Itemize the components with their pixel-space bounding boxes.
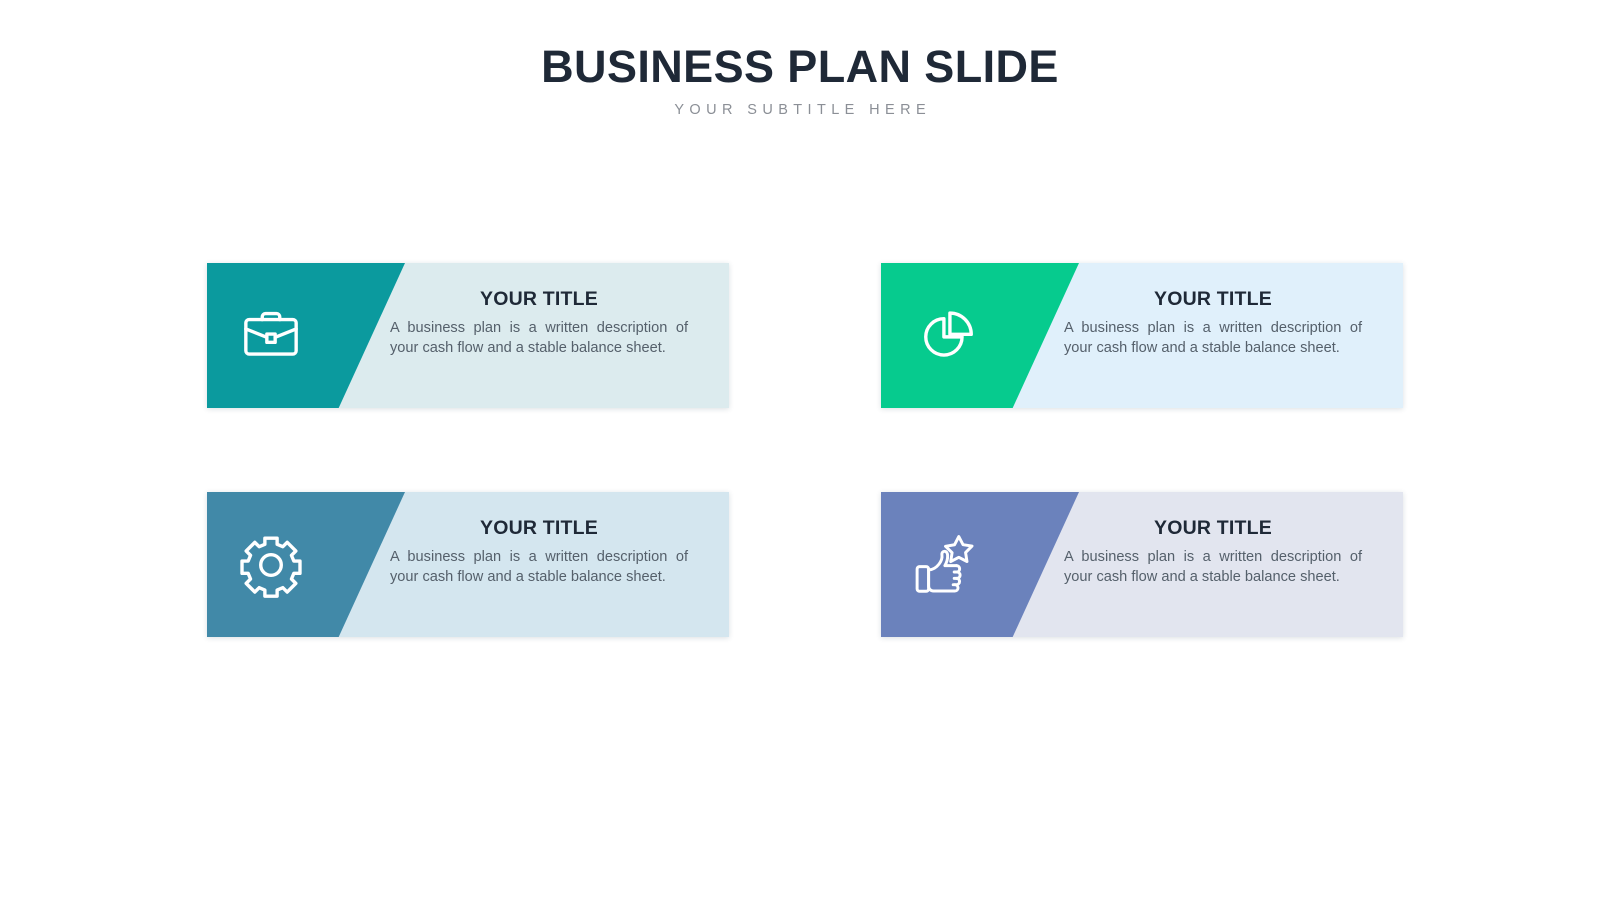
briefcase-icon (234, 299, 308, 373)
slide-canvas: BUSINESS PLAN SLIDE YOUR SUBTITLE HERE Y… (0, 0, 1600, 900)
card-text-1: YOUR TITLE A business plan is a written … (390, 287, 688, 358)
card-description-2: A business plan is a written description… (1064, 319, 1362, 358)
feature-card-3[interactable]: YOUR TITLE A business plan is a written … (207, 492, 729, 637)
slide-header: BUSINESS PLAN SLIDE YOUR SUBTITLE HERE (0, 40, 1600, 120)
gear-icon (234, 528, 308, 602)
card-text-4: YOUR TITLE A business plan is a written … (1064, 516, 1362, 587)
thumbs-up-star-icon (908, 528, 982, 602)
page-title: BUSINESS PLAN SLIDE (0, 40, 1600, 94)
card-title-4: YOUR TITLE (1064, 516, 1362, 540)
feature-card-4[interactable]: YOUR TITLE A business plan is a written … (881, 492, 1403, 637)
pie-chart-icon (908, 299, 982, 373)
card-description-1: A business plan is a written description… (390, 319, 688, 358)
card-title-3: YOUR TITLE (390, 516, 688, 540)
feature-card-2[interactable]: YOUR TITLE A business plan is a written … (881, 263, 1403, 408)
card-title-2: YOUR TITLE (1064, 287, 1362, 311)
feature-card-1[interactable]: YOUR TITLE A business plan is a written … (207, 263, 729, 408)
card-text-3: YOUR TITLE A business plan is a written … (390, 516, 688, 587)
cards-grid: YOUR TITLE A business plan is a written … (207, 263, 1403, 635)
page-subtitle: YOUR SUBTITLE HERE (0, 100, 1600, 120)
card-description-3: A business plan is a written description… (390, 548, 688, 587)
card-text-2: YOUR TITLE A business plan is a written … (1064, 287, 1362, 358)
card-title-1: YOUR TITLE (390, 287, 688, 311)
card-description-4: A business plan is a written description… (1064, 548, 1362, 587)
